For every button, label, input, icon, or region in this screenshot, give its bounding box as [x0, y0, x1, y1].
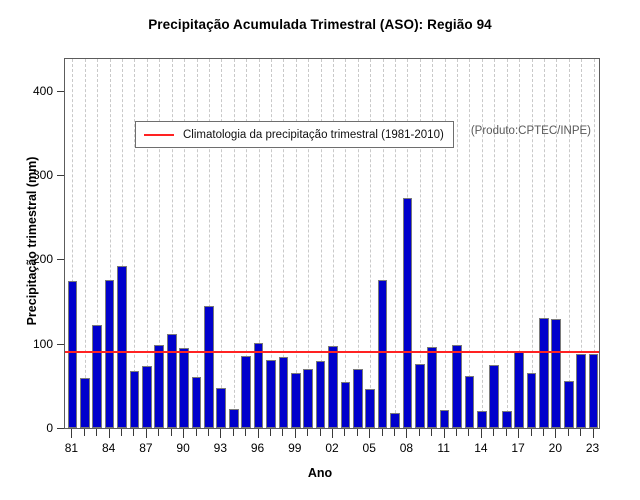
- bar: [564, 381, 574, 428]
- x-tick-mark: [543, 429, 544, 436]
- y-tick-label: 400: [9, 84, 53, 98]
- bar: [440, 410, 450, 428]
- bar: [167, 334, 177, 428]
- bar: [229, 409, 239, 428]
- bar: [105, 280, 115, 428]
- bar: [192, 377, 202, 428]
- x-tick-label: 81: [51, 441, 91, 455]
- y-tick-mark: [57, 91, 64, 92]
- grid-line: [197, 59, 198, 428]
- bar: [527, 373, 537, 428]
- x-tick-mark-major: [369, 429, 370, 438]
- x-tick-mark: [382, 429, 383, 436]
- bar: [316, 361, 326, 428]
- bar: [353, 369, 363, 428]
- x-tick-mark: [133, 429, 134, 436]
- x-tick-label: 20: [535, 441, 575, 455]
- bar: [403, 198, 413, 428]
- x-tick-label: 11: [424, 441, 464, 455]
- chart-legend: Climatologia da precipitação trimestral …: [135, 121, 454, 148]
- x-tick-mark-major: [593, 429, 594, 438]
- bar: [303, 369, 313, 428]
- bar: [142, 366, 152, 428]
- bar: [489, 365, 499, 428]
- y-tick-mark: [57, 428, 64, 429]
- x-tick-mark: [208, 429, 209, 436]
- bar: [117, 266, 127, 428]
- bar: [502, 411, 512, 428]
- bar: [576, 354, 586, 428]
- x-tick-mark: [196, 429, 197, 436]
- x-tick-mark: [158, 429, 159, 436]
- plot-inner: [65, 59, 599, 428]
- x-tick-label: 02: [312, 441, 352, 455]
- bar: [415, 364, 425, 428]
- bar: [514, 352, 524, 428]
- grid-line: [507, 59, 508, 428]
- climatology-line: [65, 351, 599, 353]
- x-tick-mark: [419, 429, 420, 436]
- x-tick-mark: [493, 429, 494, 436]
- bar: [279, 357, 289, 428]
- x-tick-mark-major: [481, 429, 482, 438]
- x-tick-label: 14: [461, 441, 501, 455]
- x-tick-mark-major: [555, 429, 556, 438]
- x-tick-mark: [456, 429, 457, 436]
- x-tick-label: 93: [200, 441, 240, 455]
- x-tick-mark: [171, 429, 172, 436]
- bar: [328, 346, 338, 428]
- bar: [216, 388, 226, 428]
- bar: [80, 378, 90, 428]
- grid-line: [221, 59, 222, 428]
- bar: [130, 371, 140, 428]
- x-tick-mark-major: [258, 429, 259, 438]
- x-tick-label: 87: [126, 441, 166, 455]
- x-tick-mark-major: [109, 429, 110, 438]
- bar: [254, 343, 264, 428]
- x-tick-label: 23: [573, 441, 613, 455]
- x-tick-mark: [245, 429, 246, 436]
- source-annotation: (Produto:CPTEC/INPE): [471, 125, 591, 137]
- y-tick-mark: [57, 175, 64, 176]
- x-tick-mark: [394, 429, 395, 436]
- bar: [68, 281, 78, 428]
- x-tick-mark-major: [146, 429, 147, 438]
- bar: [92, 325, 102, 428]
- x-tick-mark: [121, 429, 122, 436]
- legend-label-climatology: Climatologia da precipitação trimestral …: [183, 129, 444, 141]
- x-tick-mark-major: [183, 429, 184, 438]
- grid-line: [445, 59, 446, 428]
- x-tick-mark: [320, 429, 321, 436]
- bar: [341, 382, 351, 428]
- x-tick-mark: [84, 429, 85, 436]
- bar: [589, 354, 599, 428]
- x-tick-label: 05: [349, 441, 389, 455]
- grid-line: [569, 59, 570, 428]
- bar: [477, 411, 487, 428]
- x-tick-label: 08: [386, 441, 426, 455]
- chart-title: Precipitação Acumulada Trimestral (ASO):…: [0, 17, 640, 32]
- x-tick-label: 17: [498, 441, 538, 455]
- bar: [551, 319, 561, 428]
- x-tick-label: 96: [238, 441, 278, 455]
- bar: [452, 345, 462, 428]
- bar: [365, 389, 375, 428]
- x-tick-mark: [307, 429, 308, 436]
- bar: [204, 306, 214, 428]
- grid-line: [234, 59, 235, 428]
- y-tick-mark: [57, 344, 64, 345]
- bar: [390, 413, 400, 428]
- y-tick-label: 300: [9, 168, 53, 182]
- grid-line: [469, 59, 470, 428]
- x-tick-mark: [468, 429, 469, 436]
- legend-line-swatch: [144, 134, 174, 136]
- y-tick-label: 200: [9, 252, 53, 266]
- x-tick-mark: [506, 429, 507, 436]
- plot-area: Climatologia da precipitação trimestral …: [64, 58, 600, 429]
- x-tick-label: 99: [275, 441, 315, 455]
- x-tick-mark: [344, 429, 345, 436]
- bar: [378, 280, 388, 428]
- bar: [465, 376, 475, 428]
- x-tick-mark: [531, 429, 532, 436]
- chart-container: Precipitação Acumulada Trimestral (ASO):…: [0, 0, 640, 500]
- x-tick-mark: [580, 429, 581, 436]
- grid-line: [395, 59, 396, 428]
- bar: [179, 348, 189, 428]
- x-tick-label: 84: [89, 441, 129, 455]
- bar: [266, 360, 276, 428]
- x-tick-mark-major: [295, 429, 296, 438]
- y-tick-label: 0: [9, 421, 53, 435]
- x-tick-mark-major: [518, 429, 519, 438]
- bar: [291, 373, 301, 428]
- x-tick-mark: [431, 429, 432, 436]
- x-tick-label: 90: [163, 441, 203, 455]
- x-tick-mark-major: [71, 429, 72, 438]
- x-tick-mark-major: [444, 429, 445, 438]
- bar: [154, 345, 164, 428]
- x-tick-mark: [96, 429, 97, 436]
- grid-line: [370, 59, 371, 428]
- x-tick-mark: [233, 429, 234, 436]
- grid-line: [345, 59, 346, 428]
- grid-line: [85, 59, 86, 428]
- x-tick-mark: [282, 429, 283, 436]
- bar: [539, 318, 549, 428]
- grid-line: [482, 59, 483, 428]
- bar: [241, 356, 251, 429]
- x-tick-mark-major: [220, 429, 221, 438]
- x-tick-mark: [357, 429, 358, 436]
- bar: [427, 347, 437, 428]
- x-tick-mark: [568, 429, 569, 436]
- y-tick-label: 100: [9, 337, 53, 351]
- x-tick-mark: [270, 429, 271, 436]
- y-tick-mark: [57, 259, 64, 260]
- x-tick-mark-major: [332, 429, 333, 438]
- x-axis-title: Ano: [0, 466, 640, 480]
- x-tick-mark-major: [406, 429, 407, 438]
